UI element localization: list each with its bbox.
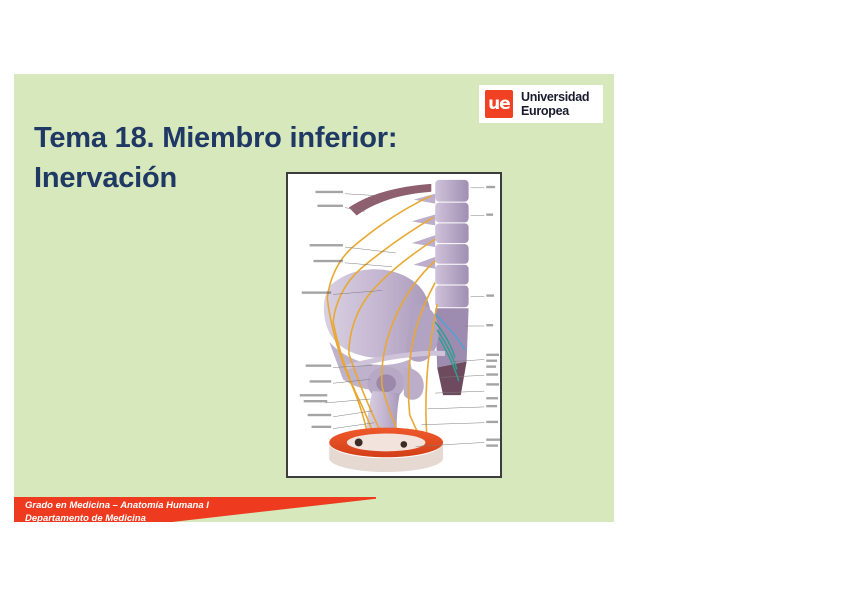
- thigh-cross-section: [329, 428, 443, 472]
- footer-line-2: Departamento de Medicina: [25, 513, 209, 522]
- footer-line-1: Grado en Medicina – Anatomía Humana I: [25, 500, 209, 513]
- anatomy-illustration: [286, 172, 502, 478]
- logo-wordmark: Universidad Europea: [521, 90, 589, 118]
- presentation-slide: Tema 18. Miembro inferior: Inervación ue…: [14, 74, 614, 522]
- title-line-1: Tema 18. Miembro inferior:: [34, 118, 474, 158]
- anatomy-illustration-graphic: [288, 174, 500, 476]
- slide-footer: Grado en Medicina – Anatomía Humana I De…: [14, 497, 376, 522]
- ue-logo-mark-text: ue: [488, 96, 510, 113]
- logo-wordmark-line-2: Europea: [521, 104, 589, 118]
- ue-logo-mark-icon: ue: [485, 90, 513, 118]
- footer-text: Grado en Medicina – Anatomía Humana I De…: [25, 500, 209, 522]
- universidad-europea-logo: ue Universidad Europea: [479, 85, 603, 123]
- logo-wordmark-line-1: Universidad: [521, 90, 589, 104]
